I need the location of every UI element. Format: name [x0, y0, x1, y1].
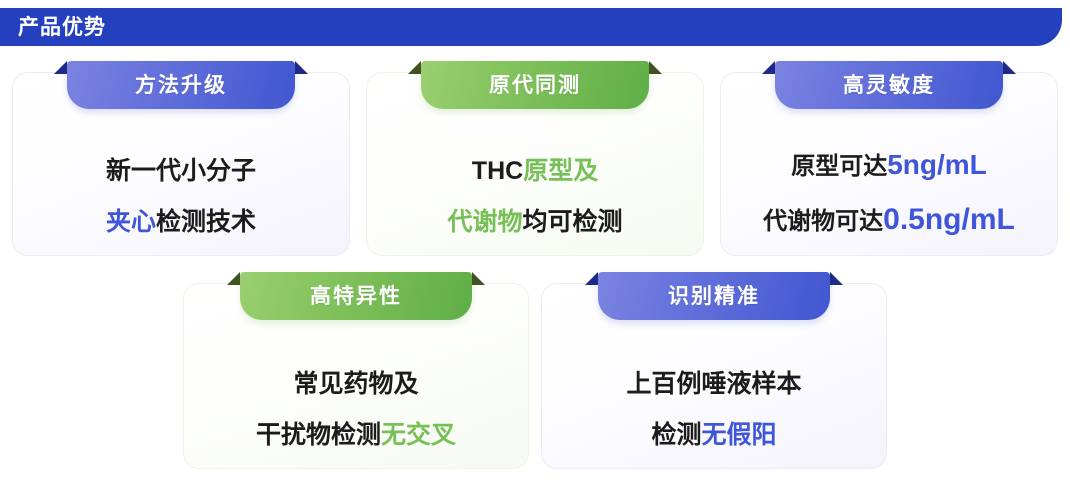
- card-body-line: 原型可达5ng/mL: [721, 151, 1057, 179]
- card-text-segment: 代谢物可达: [763, 208, 883, 235]
- card-text-segment: 干扰物检测: [256, 421, 381, 449]
- section-title: 产品优势: [18, 17, 106, 38]
- card-body-line: 新一代小分子: [13, 159, 349, 184]
- feature-card: 高灵敏度原型可达5ng/mL代谢物可达0.5ng/mL: [720, 72, 1058, 256]
- ribbon-fold-right-icon: [1003, 61, 1016, 74]
- card-ribbon-header: 原代同测: [421, 61, 649, 109]
- feature-card-row-top: 方法升级新一代小分子夹心检测技术原代同测THC原型及代谢物均可检测高灵敏度原型可…: [0, 72, 1070, 256]
- card-text-highlight: 代谢物: [447, 208, 522, 236]
- feature-card: 高特异性常见药物及干扰物检测无交叉: [183, 283, 529, 469]
- card-body: 常见药物及干扰物检测无交叉: [184, 372, 528, 448]
- feature-card: 识别精准上百例唾液样本检测无假阳: [541, 283, 887, 469]
- card-ribbon-header: 方法升级: [67, 61, 295, 109]
- ribbon-fold-right-icon: [295, 61, 308, 74]
- card-text-highlight: 无假阳: [702, 421, 777, 449]
- ribbon-fold-left-icon: [762, 61, 775, 74]
- card-body-line: 代谢物均可检测: [367, 210, 703, 235]
- card-text-segment: 新一代小分子: [106, 157, 256, 185]
- feature-card: 方法升级新一代小分子夹心检测技术: [12, 72, 350, 256]
- card-text-segment: 检测: [651, 421, 701, 449]
- section-banner: 产品优势: [0, 8, 1062, 46]
- card-ribbon-label: 方法升级: [135, 75, 227, 96]
- ribbon-fold-left-icon: [408, 61, 421, 74]
- card-body: 新一代小分子夹心检测技术: [13, 159, 349, 235]
- card-body: 原型可达5ng/mL代谢物可达0.5ng/mL: [721, 151, 1057, 235]
- card-ribbon-header: 识别精准: [598, 272, 830, 320]
- card-text-segment: 检测技术: [156, 208, 256, 236]
- card-ribbon-header: 高特异性: [240, 272, 472, 320]
- card-body-line: 上百例唾液样本: [542, 372, 886, 397]
- ribbon-fold-left-icon: [54, 61, 67, 74]
- ribbon-fold-right-icon: [472, 272, 485, 285]
- card-body-line: THC原型及: [367, 159, 703, 184]
- card-body-line: 夹心检测技术: [13, 210, 349, 235]
- card-body-line: 代谢物可达0.5ng/mL: [721, 205, 1057, 235]
- card-text-highlight: 夹心: [106, 208, 156, 236]
- card-text-segment: 上百例唾液样本: [626, 370, 801, 398]
- ribbon-fold-right-icon: [830, 272, 843, 285]
- feature-card-row-bottom: 高特异性常见药物及干扰物检测无交叉识别精准上百例唾液样本检测无假阳: [0, 283, 1070, 469]
- card-text-highlight: 原型及: [523, 157, 598, 185]
- card-text-highlight: 0.5ng/mL: [883, 203, 1015, 236]
- card-ribbon-header: 高灵敏度: [775, 61, 1003, 109]
- card-body-line: 检测无假阳: [542, 423, 886, 448]
- card-ribbon-label: 高特异性: [310, 286, 402, 307]
- ribbon-fold-right-icon: [649, 61, 662, 74]
- card-body: 上百例唾液样本检测无假阳: [542, 372, 886, 448]
- card-body-line: 常见药物及: [184, 372, 528, 397]
- card-body: THC原型及代谢物均可检测: [367, 159, 703, 235]
- ribbon-fold-left-icon: [585, 272, 598, 285]
- card-text-segment: THC: [472, 157, 523, 185]
- ribbon-fold-left-icon: [227, 272, 240, 285]
- card-ribbon-label: 高灵敏度: [843, 75, 935, 96]
- card-text-segment: 常见药物及: [293, 370, 418, 398]
- feature-card: 原代同测THC原型及代谢物均可检测: [366, 72, 704, 256]
- card-text-highlight: 无交叉: [381, 421, 456, 449]
- card-text-segment: 原型可达: [791, 153, 887, 180]
- card-body-line: 干扰物检测无交叉: [184, 423, 528, 448]
- card-ribbon-label: 原代同测: [489, 75, 581, 96]
- card-text-segment: 均可检测: [523, 208, 623, 236]
- card-ribbon-label: 识别精准: [668, 286, 760, 307]
- card-text-highlight: 5ng/mL: [887, 149, 987, 180]
